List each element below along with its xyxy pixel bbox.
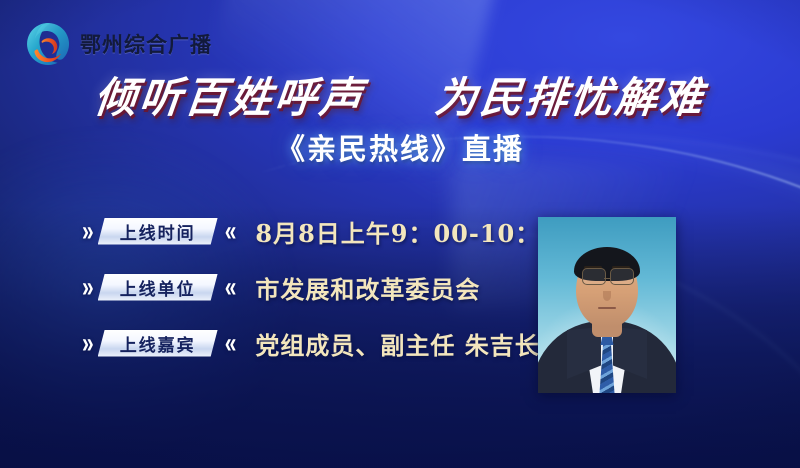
broadcast-poster: 鄂州综合广播 倾听百姓呼声 为民排忧解难 《亲民热线》直播 » 上线时间 « 8… <box>0 0 800 468</box>
info-value-text: 党组成员、副主任 朱吉长 <box>255 326 539 361</box>
info-label-text: 上线时间 <box>120 219 196 244</box>
portrait-mouth <box>598 307 616 310</box>
headline-main-text: 倾听百姓呼声 为民排忧解难 <box>92 64 709 125</box>
info-label-text: 上线嘉宾 <box>120 331 196 356</box>
swirl-wave-logo-icon <box>24 20 72 68</box>
chevron-left-double-icon: « <box>225 273 234 301</box>
headline-block: 倾听百姓呼声 为民排忧解难 <box>0 64 800 125</box>
info-row-online-time: » 上线时间 « 8月8日上午9：00-10：00 <box>82 214 576 248</box>
portrait-glasses-right <box>610 268 634 285</box>
portrait-glasses-left <box>582 268 606 285</box>
subtitle-block: 《亲民热线》直播 <box>0 126 800 168</box>
info-row-online-unit: » 上线单位 « 市发展和改革委员会 <box>82 270 576 304</box>
info-value-text: 8月8日上午9：00-10：00 <box>255 214 575 249</box>
info-label-badge: 上线时间 <box>98 218 218 245</box>
info-row-online-guest: » 上线嘉宾 « 党组成员、副主任 朱吉长 <box>82 326 576 360</box>
chevron-left-double-icon: « <box>225 217 234 245</box>
info-list: » 上线时间 « 8月8日上午9：00-10：00 » 上线单位 « 市发展和改… <box>82 214 576 360</box>
info-label-badge: 上线嘉宾 <box>98 330 218 357</box>
program-title: 《亲民热线》直播 <box>276 126 524 168</box>
station-logo: 鄂州综合广播 <box>24 20 212 68</box>
chevron-right-double-icon: » <box>82 273 91 301</box>
station-name: 鄂州综合广播 <box>80 29 212 59</box>
info-label-badge: 上线单位 <box>98 274 218 301</box>
chevron-left-double-icon: « <box>225 329 234 357</box>
guest-portrait-photo <box>538 217 676 393</box>
chevron-right-double-icon: » <box>82 329 91 357</box>
info-value-text: 市发展和改革委员会 <box>255 270 480 305</box>
portrait-glasses-bridge <box>604 278 610 280</box>
chevron-right-double-icon: » <box>82 217 91 245</box>
portrait-nose <box>603 291 611 301</box>
info-label-text: 上线单位 <box>120 275 196 300</box>
